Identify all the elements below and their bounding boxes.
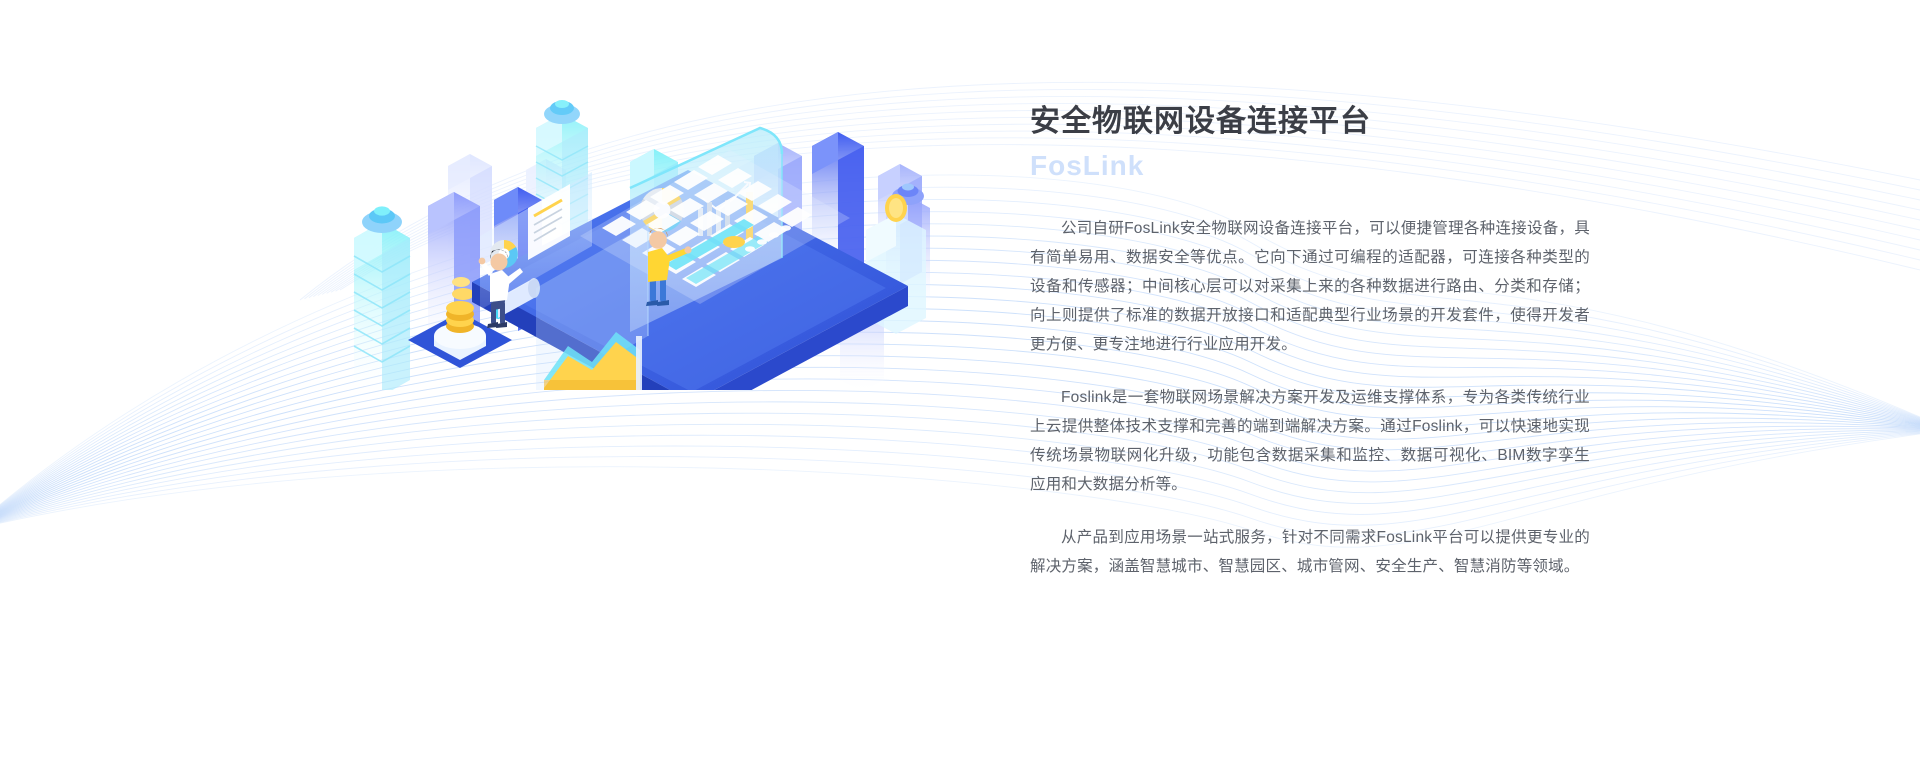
coin-token bbox=[723, 236, 745, 248]
page-title: 安全物联网设备连接平台 bbox=[1030, 100, 1590, 144]
wave-line bbox=[0, 284, 1920, 530]
wave-line bbox=[0, 199, 1920, 530]
wave-line bbox=[0, 187, 1920, 530]
hero-banner: 安全物联网设备连接平台 FosLink 公司自研FosLink安全物联网设备连接… bbox=[0, 0, 1920, 760]
wave-line bbox=[0, 430, 1920, 530]
wave-line bbox=[0, 296, 1920, 530]
wave-line bbox=[0, 413, 1920, 530]
wave-line bbox=[0, 430, 1920, 530]
body-paragraph-2: Foslink是一套物联网场景解决方案开发及运维支撑体系，专为各类传统行业上云提… bbox=[1030, 383, 1590, 499]
wave-line bbox=[0, 175, 1920, 530]
wave-line bbox=[0, 272, 1920, 530]
background-wave-decoration bbox=[0, 0, 1920, 760]
body-paragraph-3: 从产品到应用场景一站式服务，针对不同需求FosLink平台可以提供更专业的解决方… bbox=[1030, 523, 1590, 581]
hero-text-column: 安全物联网设备连接平台 FosLink 公司自研FosLink安全物联网设备连接… bbox=[1030, 100, 1590, 581]
wave-line bbox=[0, 212, 1920, 530]
wave-line bbox=[0, 308, 1920, 530]
wave-line bbox=[0, 320, 1920, 530]
wave-line bbox=[0, 332, 1920, 530]
wave-line bbox=[0, 430, 1920, 536]
wave-line bbox=[0, 430, 1920, 547]
wave-line bbox=[0, 367, 1920, 530]
wave-line bbox=[0, 260, 1920, 530]
wave-line bbox=[0, 402, 1920, 530]
wave-line bbox=[0, 344, 1920, 530]
building-pagoda-left bbox=[354, 206, 410, 390]
wave-line bbox=[0, 424, 1920, 530]
wave-line bbox=[0, 356, 1920, 530]
wave-line bbox=[0, 248, 1920, 530]
wave-line bbox=[0, 236, 1920, 530]
wave-line bbox=[0, 391, 1920, 530]
isometric-iot-illustration bbox=[330, 50, 950, 390]
page-subtitle: FosLink bbox=[1030, 144, 1590, 188]
wave-line bbox=[0, 379, 1920, 530]
body-paragraph-1: 公司自研FosLink安全物联网设备连接平台，可以便捷管理各种连接设备，具有简单… bbox=[1030, 214, 1590, 359]
wave-line bbox=[0, 224, 1920, 530]
